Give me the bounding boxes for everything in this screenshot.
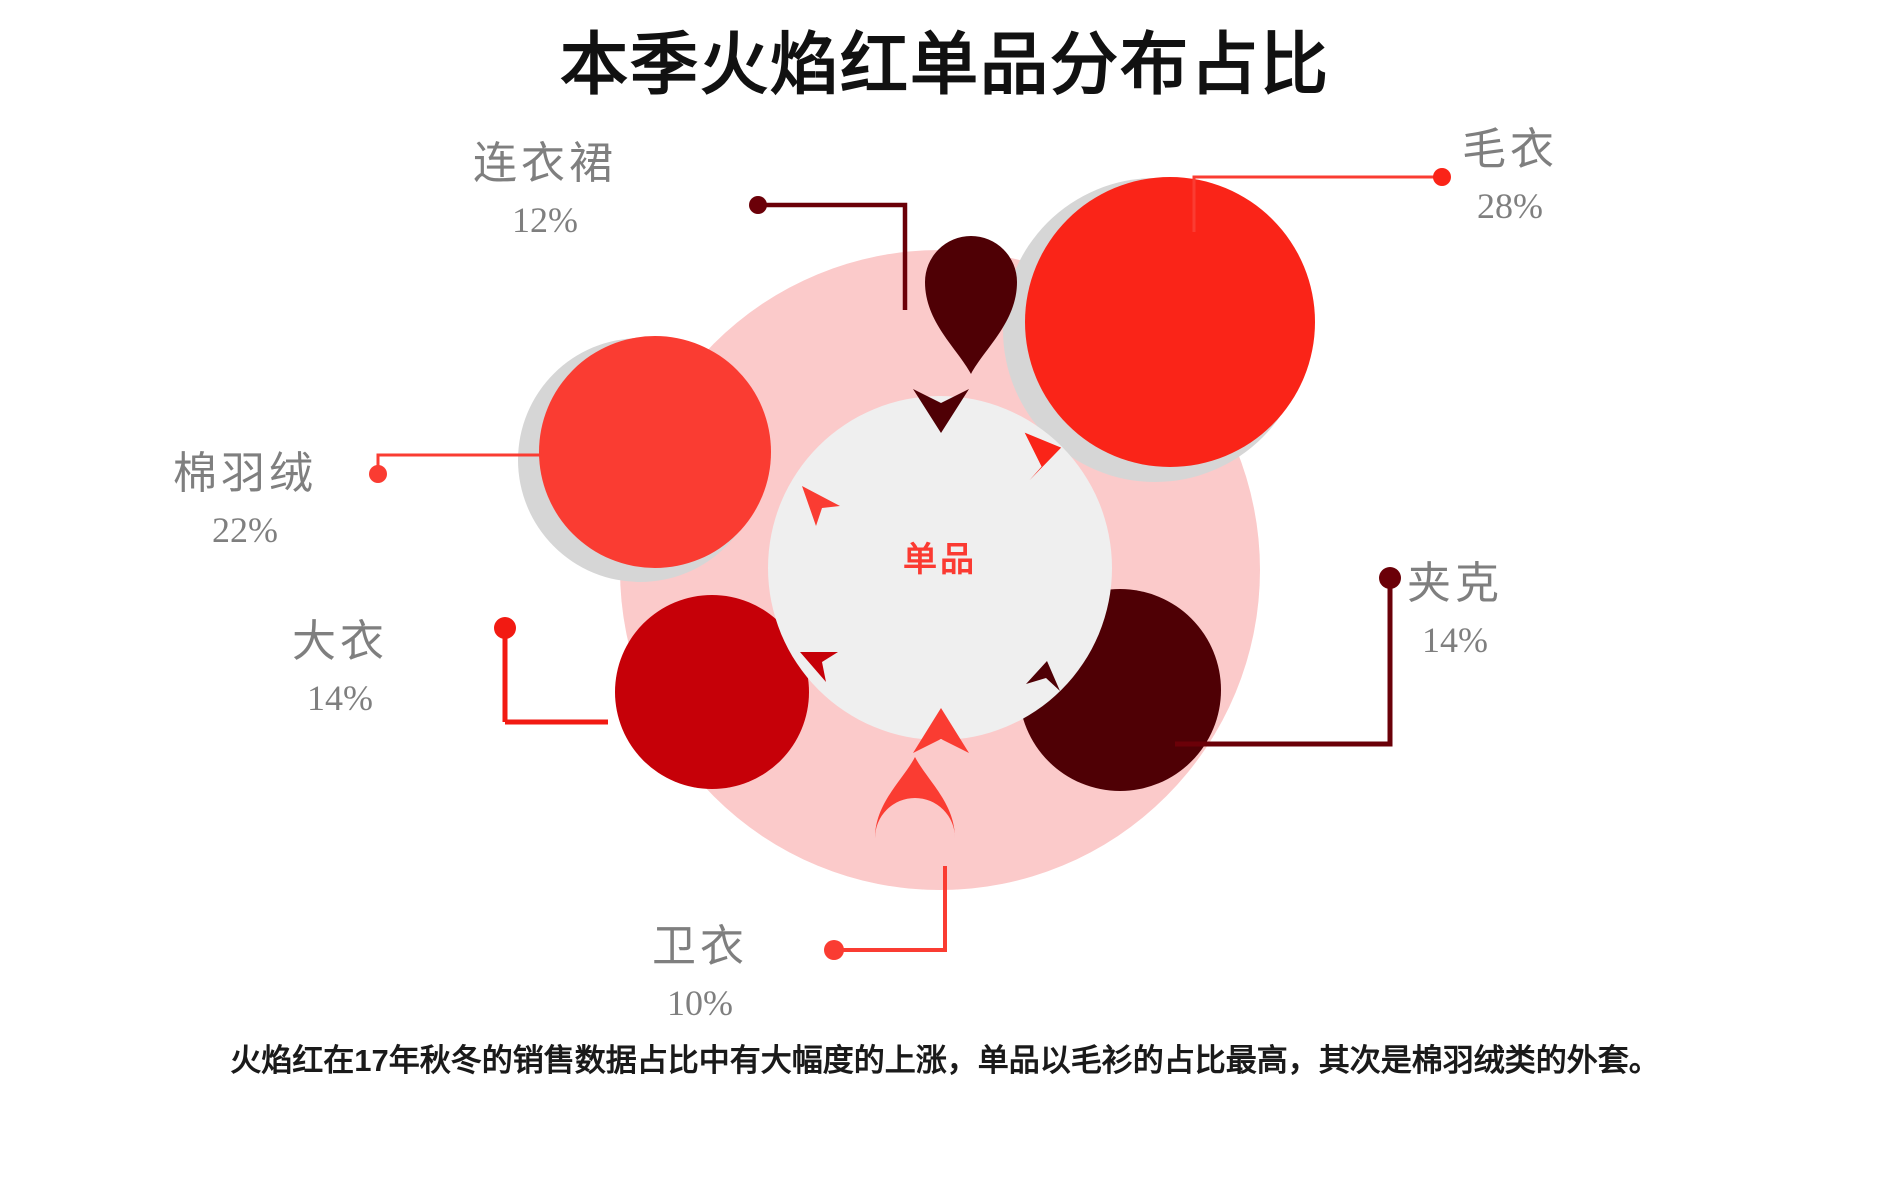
segment-label-hoodie-percent: 10% (585, 985, 815, 1021)
connector-down-dot[interactable] (369, 465, 387, 483)
center-hub-label: 单品 (820, 532, 1060, 581)
segment-label-jacket[interactable]: 夹克 14% (1340, 562, 1570, 658)
segment-label-jacket-percent: 14% (1340, 622, 1570, 658)
connector-coat-dot[interactable] (494, 617, 516, 639)
segment-label-coat[interactable]: 大衣 14% (225, 620, 455, 716)
connector-coat (494, 617, 608, 722)
footer-caption: 火焰红在17年秋冬的销售数据占比中有大幅度的上涨，单品以毛衫的占比最高，其次是棉… (0, 1035, 1890, 1080)
segment-label-dress-name: 连衣裙 (430, 142, 660, 186)
segment-label-hoodie-name: 卫衣 (585, 925, 815, 969)
segment-label-sweater-percent: 28% (1395, 188, 1625, 224)
segment-label-sweater-name: 毛衣 (1395, 128, 1625, 172)
segment-label-down[interactable]: 棉羽绒 22% (130, 452, 360, 548)
segment-label-coat-percent: 14% (225, 680, 455, 716)
segment-label-jacket-name: 夹克 (1340, 562, 1570, 606)
segment-label-coat-name: 大衣 (225, 620, 455, 664)
segment-label-down-percent: 22% (130, 512, 360, 548)
page-title: 本季火焰红单品分布占比 (0, 28, 1890, 103)
segment-petal-down[interactable] (539, 336, 771, 568)
connector-dress-dot[interactable] (749, 196, 767, 214)
segment-label-dress[interactable]: 连衣裙 12% (430, 142, 660, 238)
segment-label-dress-percent: 12% (430, 202, 660, 238)
segment-label-hoodie[interactable]: 卫衣 10% (585, 925, 815, 1021)
infographic-canvas: 本季火焰红单品分布占比 (0, 0, 1890, 1181)
segment-label-down-name: 棉羽绒 (130, 452, 360, 496)
connector-hoodie-dot[interactable] (824, 940, 844, 960)
segment-label-sweater[interactable]: 毛衣 28% (1395, 128, 1625, 224)
segment-petal-sweater[interactable] (1025, 177, 1315, 467)
